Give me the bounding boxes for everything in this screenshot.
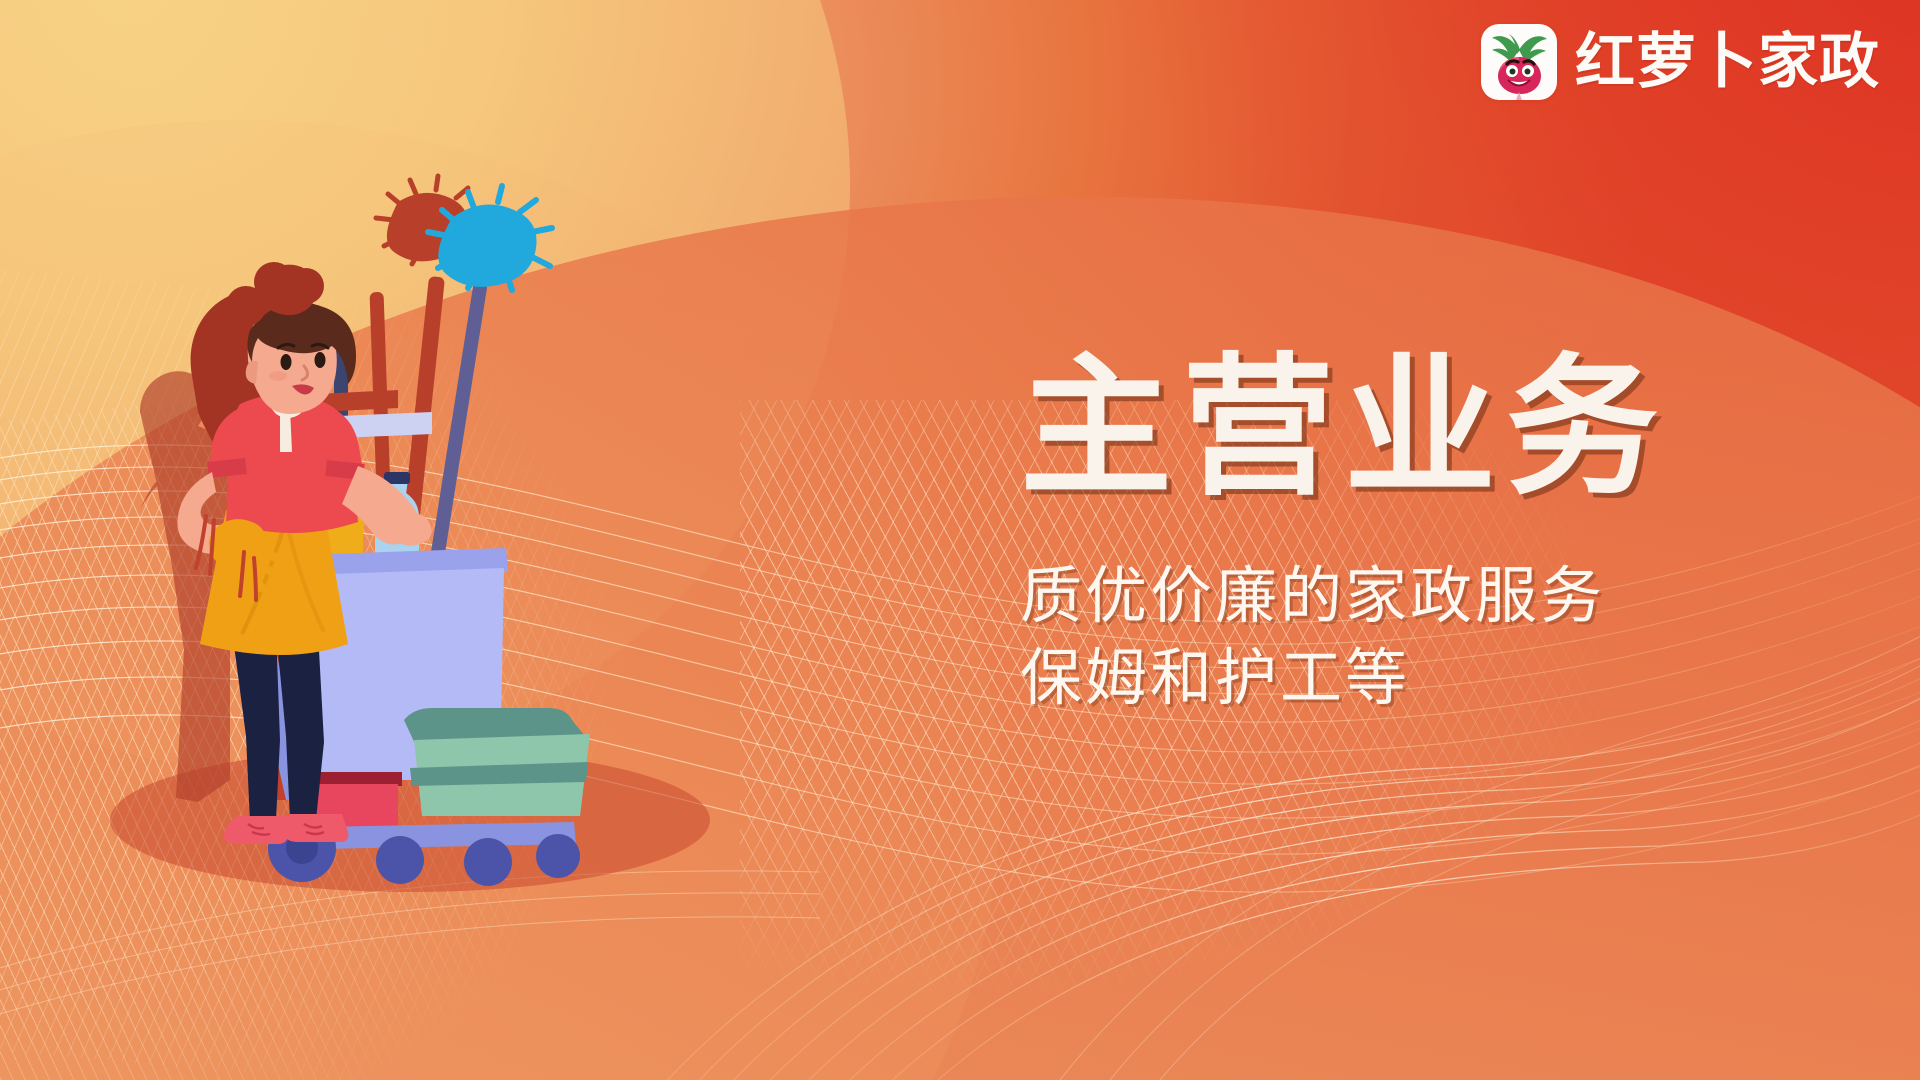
headline-block: 主营业务 质优价廉的家政服务 保姆和护工等 [1020,352,1668,720]
brand-logo[interactable]: 红萝卜家政 [1481,24,1880,100]
subtitle-line-2: 保姆和护工等 [1020,638,1668,720]
radish-icon [1481,24,1557,100]
brand-name: 红萝卜家政 [1575,32,1880,92]
housekeeper-illustration [80,180,700,900]
green-bucket [404,708,590,816]
slide-canvas: 红萝卜家政 主营业务 质优价廉的家政服务 保姆和护工等 [0,0,1920,1080]
subtitle-block: 质优价廉的家政服务 保姆和护工等 [1020,556,1668,720]
subtitle-line-1: 质优价廉的家政服务 [1020,556,1668,638]
page-title: 主营业务 [1020,352,1668,504]
radish-icon-art [1481,24,1557,100]
